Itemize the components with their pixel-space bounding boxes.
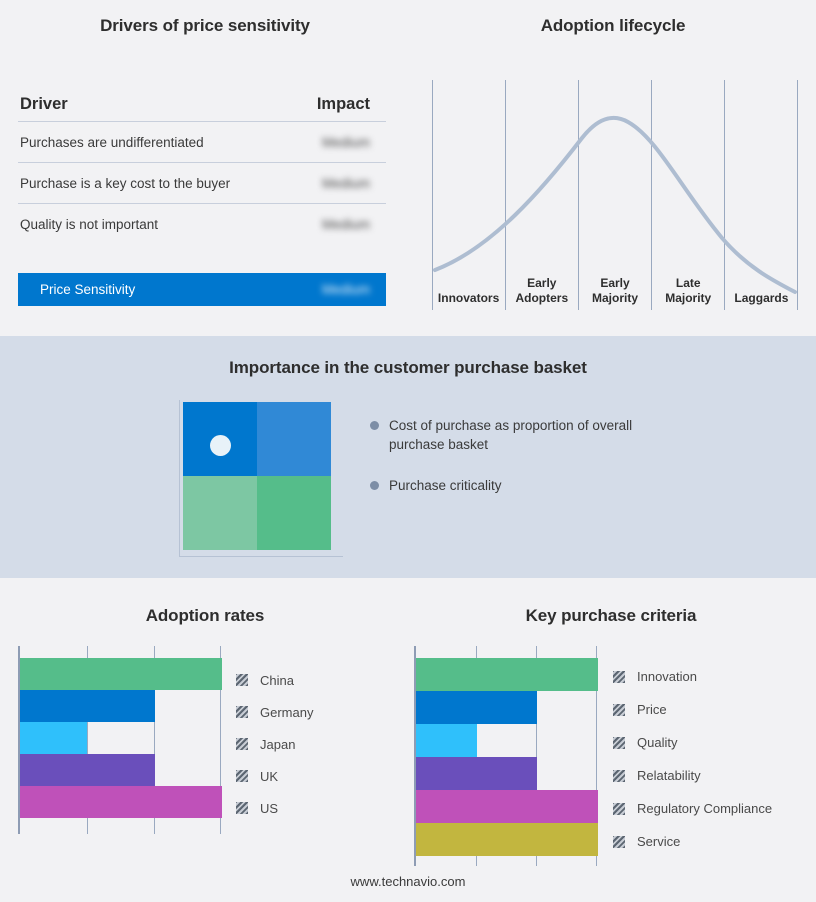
impact-value-redacted: Medium xyxy=(322,217,386,232)
table-row: Quality is not important Medium xyxy=(18,204,386,245)
hatch-swatch-icon xyxy=(236,770,248,782)
bar-row-japan xyxy=(20,722,222,754)
lifecycle-stage-early-majority: Early Majority xyxy=(578,262,651,310)
legend-label: Quality xyxy=(637,735,677,750)
criteria-bars xyxy=(416,658,598,856)
adoption-rates-legend: China Germany Japan UK US xyxy=(236,664,313,824)
hatch-swatch-icon xyxy=(236,738,248,750)
table-row: Purchases are undifferentiated Medium xyxy=(18,122,386,163)
legend-item-germany: Germany xyxy=(236,696,313,728)
bar-china xyxy=(20,658,222,690)
legend-label: Japan xyxy=(260,737,295,752)
table-row: Purchase is a key cost to the buyer Medi… xyxy=(18,163,386,204)
drivers-table: Driver Impact Purchases are undifferenti… xyxy=(18,88,386,245)
hatch-swatch-icon xyxy=(613,671,625,683)
legend-label: China xyxy=(260,673,294,688)
price-sensitivity-impact-redacted: Medium xyxy=(322,282,386,297)
adoption-rates-panel: Adoption rates China xyxy=(0,578,410,902)
key-purchase-criteria-title: Key purchase criteria xyxy=(406,606,816,626)
price-sensitivity-highlight-row: Price Sensitivity Medium xyxy=(18,273,386,306)
position-marker-dot-icon xyxy=(210,435,231,456)
hatch-swatch-icon xyxy=(613,836,625,848)
bar-row-innovation xyxy=(416,658,598,691)
hatch-swatch-icon xyxy=(236,802,248,814)
stage-line2: Majority xyxy=(652,291,725,306)
bullet-icon xyxy=(370,421,379,430)
drivers-table-header-row: Driver Impact xyxy=(18,88,386,122)
basket-legend: Cost of purchase as proportion of overal… xyxy=(370,416,670,517)
legend-label: US xyxy=(260,801,278,816)
hatch-swatch-icon xyxy=(613,704,625,716)
legend-label: Regulatory Compliance xyxy=(637,801,772,816)
stage-line1: Early xyxy=(505,276,578,291)
key-purchase-criteria-chart xyxy=(414,646,600,866)
lifecycle-panel-title: Adoption lifecycle xyxy=(410,16,816,36)
bar-row-uk xyxy=(20,754,222,786)
driver-label: Quality is not important xyxy=(18,217,158,232)
lifecycle-stage-late-majority: Late Majority xyxy=(652,262,725,310)
lifecycle-chart: Innovators Early Adopters Early Majority… xyxy=(432,80,798,310)
legend-label: UK xyxy=(260,769,278,784)
column-header-driver: Driver xyxy=(18,95,68,114)
legend-item-price: Price xyxy=(613,693,772,726)
bar-price xyxy=(416,691,537,724)
bar-row-price xyxy=(416,691,598,724)
adoption-bars xyxy=(20,658,222,818)
bar-row-regulatory-compliance xyxy=(416,790,598,823)
stage-line2: Adopters xyxy=(505,291,578,306)
footer-url: www.technavio.com xyxy=(0,874,816,889)
key-purchase-criteria-legend: Innovation Price Quality Relatability Re… xyxy=(613,660,772,858)
list-item: Cost of purchase as proportion of overal… xyxy=(370,416,670,454)
bar-uk xyxy=(20,754,155,786)
legend-item-service: Service xyxy=(613,825,772,858)
bar-relatability xyxy=(416,757,537,790)
legend-item-us: US xyxy=(236,792,313,824)
legend-label: Relatability xyxy=(637,768,701,783)
quadrant-top-left xyxy=(183,402,257,476)
stage-line2: Innovators xyxy=(432,291,505,306)
hatch-swatch-icon xyxy=(236,674,248,686)
bar-row-germany xyxy=(20,690,222,722)
legend-label: Germany xyxy=(260,705,313,720)
bar-row-relatability xyxy=(416,757,598,790)
legend-item-regulatory-compliance: Regulatory Compliance xyxy=(613,792,772,825)
legend-item-quality: Quality xyxy=(613,726,772,759)
hatch-swatch-icon xyxy=(613,737,625,749)
basket-chart-x-axis xyxy=(179,556,343,557)
quadrant-top-right xyxy=(257,402,331,476)
hatch-swatch-icon xyxy=(613,770,625,782)
lifecycle-stage-early-adopters: Early Adopters xyxy=(505,262,578,310)
legend-item-innovation: Innovation xyxy=(613,660,772,693)
bar-japan xyxy=(20,722,87,754)
stage-line1: Early xyxy=(578,276,651,291)
legend-item-china: China xyxy=(236,664,313,696)
drivers-of-price-sensitivity-panel: Drivers of price sensitivity Driver Impa… xyxy=(0,0,410,336)
bar-germany xyxy=(20,690,155,722)
stage-line2: Laggards xyxy=(725,291,798,306)
adoption-rates-chart xyxy=(18,646,222,834)
driver-label: Purchases are undifferentiated xyxy=(18,135,204,150)
key-purchase-criteria-panel: Key purchase criteria xyxy=(406,578,816,902)
hatch-swatch-icon xyxy=(236,706,248,718)
price-sensitivity-label: Price Sensitivity xyxy=(38,282,135,297)
legend-label: Price xyxy=(637,702,667,717)
bar-innovation xyxy=(416,658,598,691)
basket-quadrant-grid xyxy=(183,402,331,550)
legend-item-relatability: Relatability xyxy=(613,759,772,792)
lifecycle-stage-laggards: Laggards xyxy=(725,262,798,310)
bar-regulatory-compliance xyxy=(416,790,598,823)
bar-us xyxy=(20,786,222,818)
legend-label: Innovation xyxy=(637,669,697,684)
legend-label: Purchase criticality xyxy=(389,476,502,495)
adoption-lifecycle-panel: Adoption lifecycle Innovators Early Adop… xyxy=(410,0,816,336)
impact-value-redacted: Medium xyxy=(322,135,386,150)
legend-label: Cost of purchase as proportion of overal… xyxy=(389,416,670,454)
bar-row-us xyxy=(20,786,222,818)
driver-label: Purchase is a key cost to the buyer xyxy=(18,176,230,191)
basket-panel-title: Importance in the customer purchase bask… xyxy=(0,358,816,378)
bar-row-service xyxy=(416,823,598,856)
drivers-panel-title: Drivers of price sensitivity xyxy=(0,16,410,36)
legend-item-uk: UK xyxy=(236,760,313,792)
bar-row-quality xyxy=(416,724,598,757)
hatch-swatch-icon xyxy=(613,803,625,815)
bar-quality xyxy=(416,724,477,757)
stage-line1: Late xyxy=(652,276,725,291)
bullet-icon xyxy=(370,481,379,490)
lifecycle-stage-labels: Innovators Early Adopters Early Majority… xyxy=(432,262,798,310)
stage-line2: Majority xyxy=(578,291,651,306)
column-header-impact: Impact xyxy=(317,95,386,114)
basket-chart-y-axis xyxy=(179,400,180,556)
adoption-rates-title: Adoption rates xyxy=(0,606,410,626)
quadrant-bottom-right xyxy=(257,476,331,550)
quadrant-bottom-left xyxy=(183,476,257,550)
legend-item-japan: Japan xyxy=(236,728,313,760)
bar-row-china xyxy=(20,658,222,690)
list-item: Purchase criticality xyxy=(370,476,670,495)
lifecycle-stage-innovators: Innovators xyxy=(432,262,505,310)
impact-value-redacted: Medium xyxy=(322,176,386,191)
bar-service xyxy=(416,823,598,856)
legend-label: Service xyxy=(637,834,680,849)
